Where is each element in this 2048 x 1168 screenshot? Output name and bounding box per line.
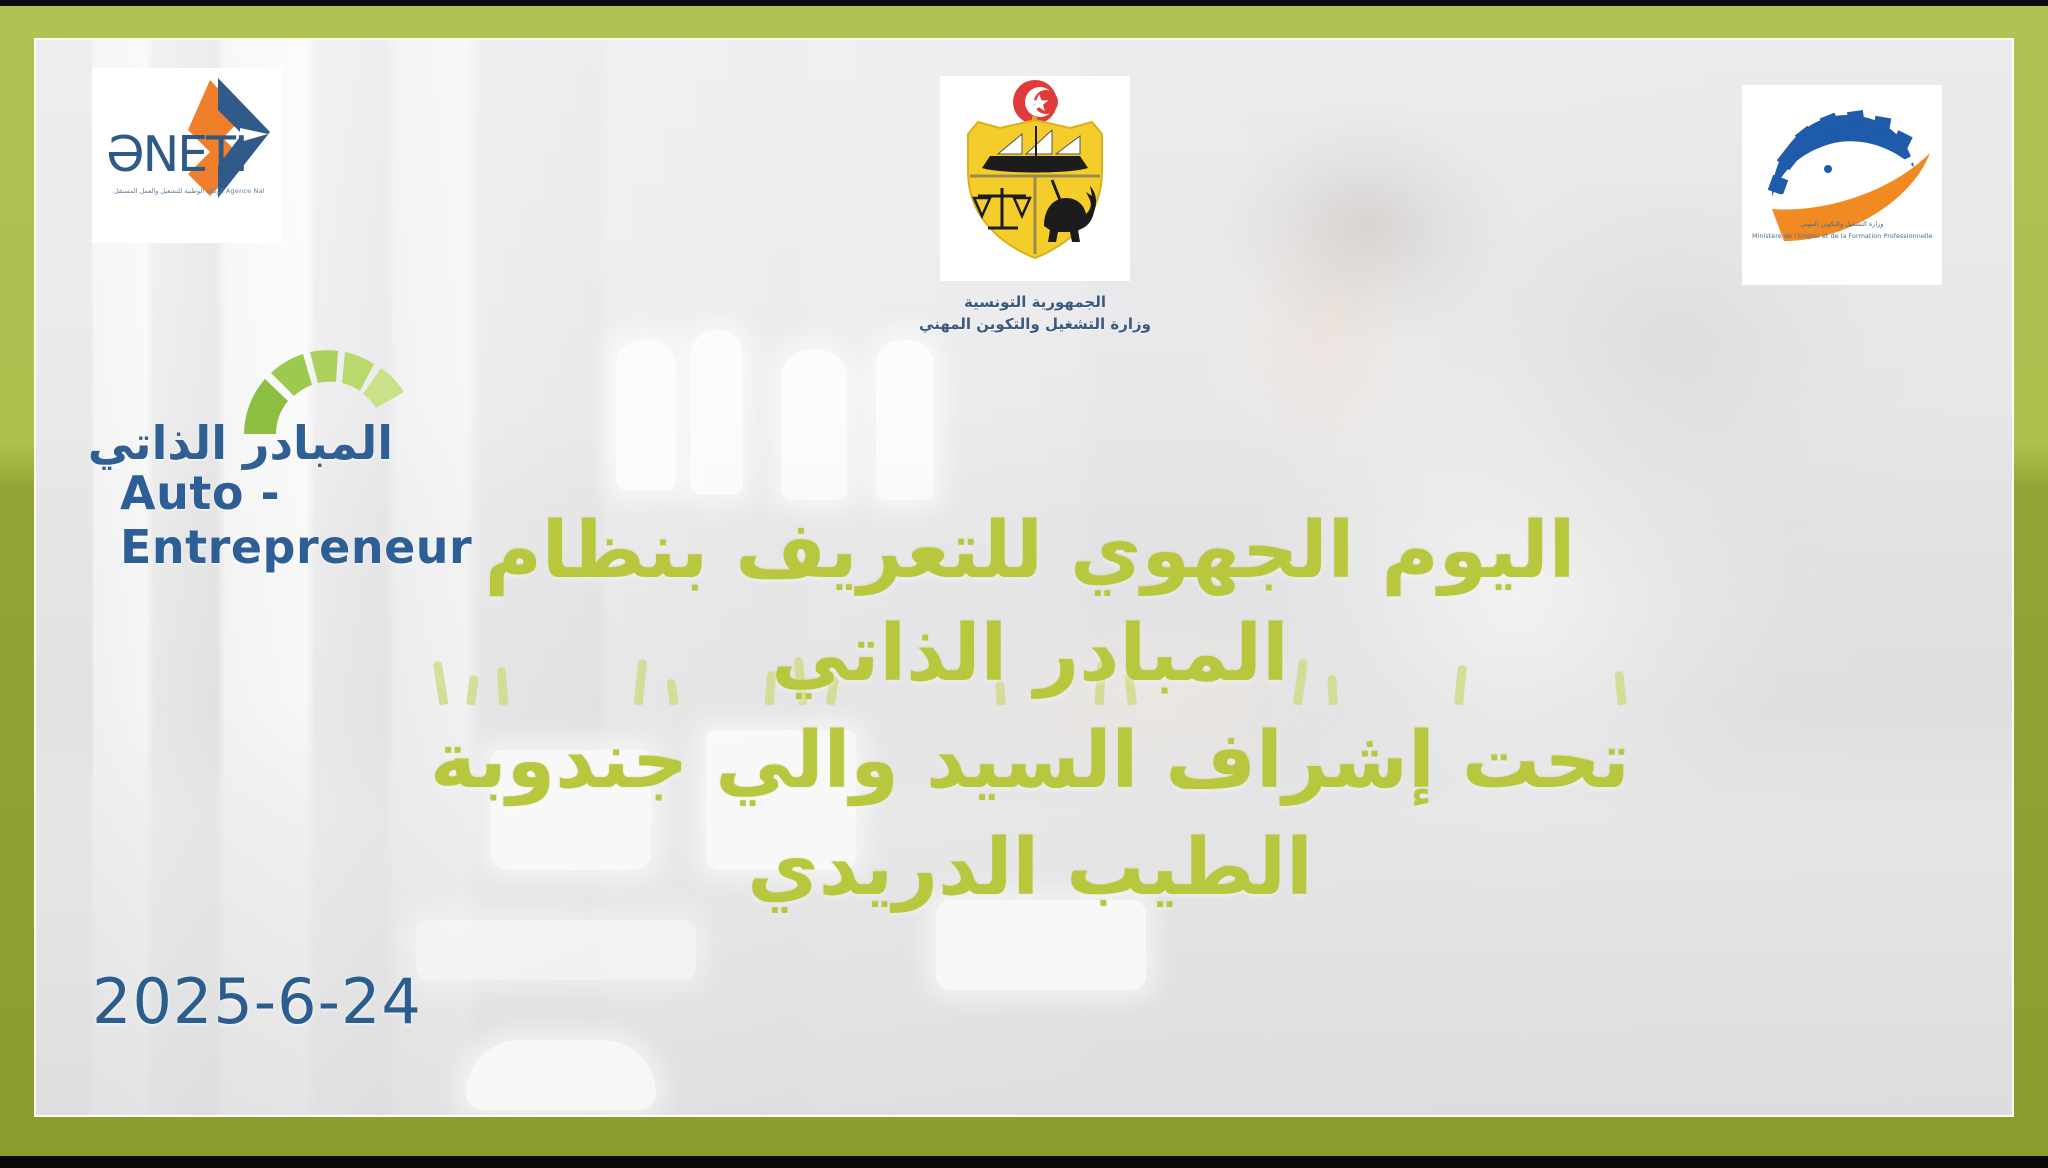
- auto-entrepreneur-arabic: المبادر الذاتي: [88, 416, 393, 470]
- ministry-caption-line2: Ministère de l'Emploi et de la Formation…: [1752, 230, 1932, 242]
- title-line-4: الطيب الدريدي: [180, 817, 1880, 920]
- event-poster: ƏNETI الوكالة الوطنية للتشغيل والعمل الم…: [0, 0, 2048, 1168]
- emblem-caption: الجمهورية التونسية وزارة التشغيل والتكوي…: [880, 292, 1190, 336]
- poster-title: اليوم الجهوي للتعريف بنظام المبادر الذات…: [180, 500, 1880, 920]
- tunisia-emblem-logo: [940, 76, 1130, 281]
- tunisia-national-emblem-icon: [940, 76, 1130, 281]
- title-line-1: اليوم الجهوي للتعريف بنظام: [180, 500, 1880, 603]
- ministry-logo: [1742, 85, 1942, 285]
- auto-entrepreneur-logo: المبادر الذاتي Auto - Entrepreneur: [78, 338, 598, 518]
- emblem-caption-line2: وزارة التشغيل والتكوين المهني: [880, 314, 1190, 336]
- aneti-wordmark: ƏNETI: [106, 126, 247, 183]
- emblem-caption-line1: الجمهورية التونسية: [880, 292, 1190, 314]
- ministry-caption: وزارة التشغيل والتكوين المهني Ministère …: [1752, 218, 1932, 243]
- aneti-logo: ƏNETI الوكالة الوطنية للتشغيل والعمل الم…: [92, 68, 282, 243]
- gear-swoosh-icon: [1742, 85, 1942, 285]
- event-date: 2025-6-24: [92, 965, 422, 1038]
- ministry-caption-line1: وزارة التشغيل والتكوين المهني: [1752, 218, 1932, 230]
- aneti-tagline: الوكالة الوطنية للتشغيل والعمل المستقل A…: [114, 186, 264, 198]
- title-line-2: المبادر الذاتي: [180, 603, 1880, 706]
- title-line-3: تحت إشراف السيد والي جندوبة: [180, 710, 1880, 813]
